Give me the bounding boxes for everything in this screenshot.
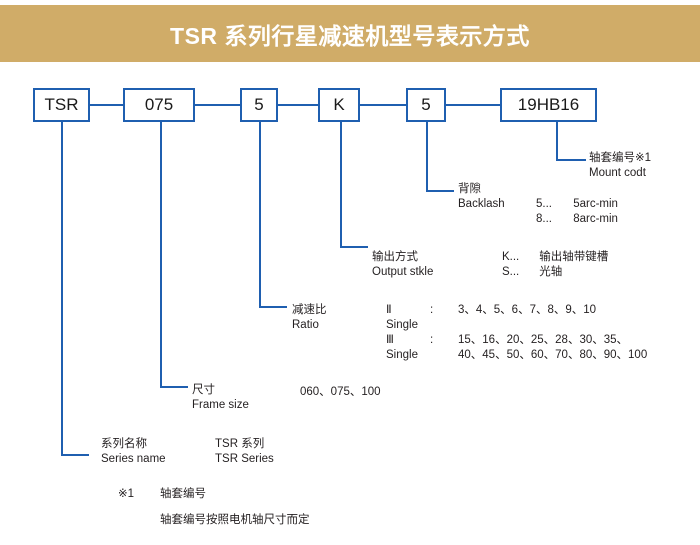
footnote-title-line: ※1轴套编号 bbox=[118, 487, 206, 502]
leader-frame-size-horizontal bbox=[160, 386, 188, 388]
code-box-mount-code[interactable]: 19HB16 bbox=[500, 88, 597, 122]
backlash-option-code: 5... bbox=[536, 197, 570, 212]
frame-size-values: 060、075、100 bbox=[300, 385, 381, 400]
backlash-option-row: 8... 8arc-min bbox=[536, 212, 618, 227]
code-box-output-style[interactable]: K bbox=[318, 88, 360, 122]
ratio-values: 3、4、5、6、7、8、9、10 bbox=[458, 304, 596, 316]
page-title: TSR 系列行星减速机型号表示方式 bbox=[170, 17, 530, 51]
callout-mount-code: 轴套编号※1 Mount codt bbox=[589, 151, 651, 181]
ratio-stage-label: Single bbox=[386, 318, 458, 333]
output-style-option-code: S... bbox=[502, 265, 536, 280]
ratio-row-2stage-label: Single bbox=[386, 318, 647, 333]
backlash-option-row: 5... 5arc-min bbox=[536, 197, 618, 212]
footnote-title: 轴套编号 bbox=[160, 488, 206, 500]
callout-ratio-cn: 减速比 bbox=[292, 303, 327, 318]
ratio-stage-numeral: Ⅲ bbox=[386, 333, 430, 348]
code-box-frame-size[interactable]: 075 bbox=[123, 88, 195, 122]
callout-frame-size-en: Frame size bbox=[192, 398, 249, 413]
backlash-option-desc: 8arc-min bbox=[573, 213, 618, 225]
footnote-mark: ※1 bbox=[118, 487, 160, 502]
series-name-value-en: TSR Series bbox=[215, 452, 274, 467]
callout-series-name-en: Series name bbox=[101, 452, 166, 467]
callout-frame-size: 尺寸 Frame size bbox=[192, 383, 249, 413]
ratio-row-3stage: Ⅲ:15、16、20、25、28、30、35、 bbox=[386, 333, 647, 348]
callout-ratio-en: Ratio bbox=[292, 318, 327, 333]
ratio-row-3stage-label: Single40、45、50、60、70、80、90、100 bbox=[386, 348, 647, 363]
box-connector-5 bbox=[446, 104, 500, 106]
output-style-option-desc: 输出轴带键槽 bbox=[539, 251, 608, 263]
callout-backlash-cn: 背隙 bbox=[458, 182, 505, 197]
ratio-values-cont: 40、45、50、60、70、80、90、100 bbox=[458, 349, 647, 361]
leader-output-style-horizontal bbox=[340, 246, 368, 248]
leader-backlash-vertical bbox=[426, 122, 428, 192]
callout-backlash: 背隙 Backlash bbox=[458, 182, 505, 212]
box-connector-1 bbox=[90, 104, 123, 106]
leader-series-name-vertical bbox=[61, 122, 63, 456]
callout-mount-code-cn: 轴套编号※1 bbox=[589, 151, 651, 166]
ratio-row-2stage: Ⅱ:3、4、5、6、7、8、9、10 bbox=[386, 303, 647, 318]
output-style-option-row: S... 光轴 bbox=[502, 265, 562, 280]
ratio-colon: : bbox=[430, 303, 458, 318]
leader-mount-code-vertical bbox=[556, 122, 558, 161]
backlash-option-code: 8... bbox=[536, 212, 570, 227]
series-name-values: TSR 系列 TSR Series bbox=[215, 437, 274, 467]
output-style-option-code: K... bbox=[502, 250, 536, 265]
ratio-colon: : bbox=[430, 333, 458, 348]
leader-ratio-vertical bbox=[259, 122, 261, 308]
callout-series-name-cn: 系列名称 bbox=[101, 437, 166, 452]
diagram-root: TSR 系列行星减速机型号表示方式 TSR 075 5 K 5 19HB16 轴… bbox=[0, 0, 700, 545]
ratio-stage-numeral: Ⅱ bbox=[386, 303, 430, 318]
leader-series-name-horizontal bbox=[61, 454, 89, 456]
leader-ratio-horizontal bbox=[259, 306, 287, 308]
callout-output-style: 输出方式 Output stkle bbox=[372, 250, 433, 280]
output-style-option-desc: 光轴 bbox=[539, 266, 562, 278]
header-banner: TSR 系列行星减速机型号表示方式 bbox=[0, 5, 700, 62]
code-box-ratio[interactable]: 5 bbox=[240, 88, 278, 122]
callout-mount-code-en: Mount codt bbox=[589, 166, 651, 181]
callout-output-style-cn: 输出方式 bbox=[372, 250, 433, 265]
callout-backlash-en: Backlash bbox=[458, 197, 505, 212]
callout-output-style-en: Output stkle bbox=[372, 265, 433, 280]
code-box-backlash[interactable]: 5 bbox=[406, 88, 446, 122]
ratio-values: 15、16、20、25、28、30、35、 bbox=[458, 334, 628, 346]
footnote-text: 轴套编号按照电机轴尺寸而定 bbox=[160, 513, 310, 528]
callout-frame-size-cn: 尺寸 bbox=[192, 383, 249, 398]
callout-series-name: 系列名称 Series name bbox=[101, 437, 166, 467]
box-connector-2 bbox=[195, 104, 240, 106]
callout-ratio: 减速比 Ratio bbox=[292, 303, 327, 333]
leader-frame-size-vertical bbox=[160, 122, 162, 388]
leader-output-style-vertical bbox=[340, 122, 342, 248]
ratio-stage-label: Single bbox=[386, 348, 458, 363]
ratio-table: Ⅱ:3、4、5、6、7、8、9、10 Single Ⅲ:15、16、20、25、… bbox=[386, 303, 647, 363]
leader-mount-code-horizontal bbox=[556, 159, 586, 161]
series-name-value-cn: TSR 系列 bbox=[215, 437, 274, 452]
box-connector-3 bbox=[278, 104, 318, 106]
code-box-series[interactable]: TSR bbox=[33, 88, 90, 122]
output-style-option-row: K... 输出轴带键槽 bbox=[502, 250, 608, 265]
backlash-option-desc: 5arc-min bbox=[573, 198, 618, 210]
box-connector-4 bbox=[360, 104, 406, 106]
leader-backlash-horizontal bbox=[426, 190, 454, 192]
